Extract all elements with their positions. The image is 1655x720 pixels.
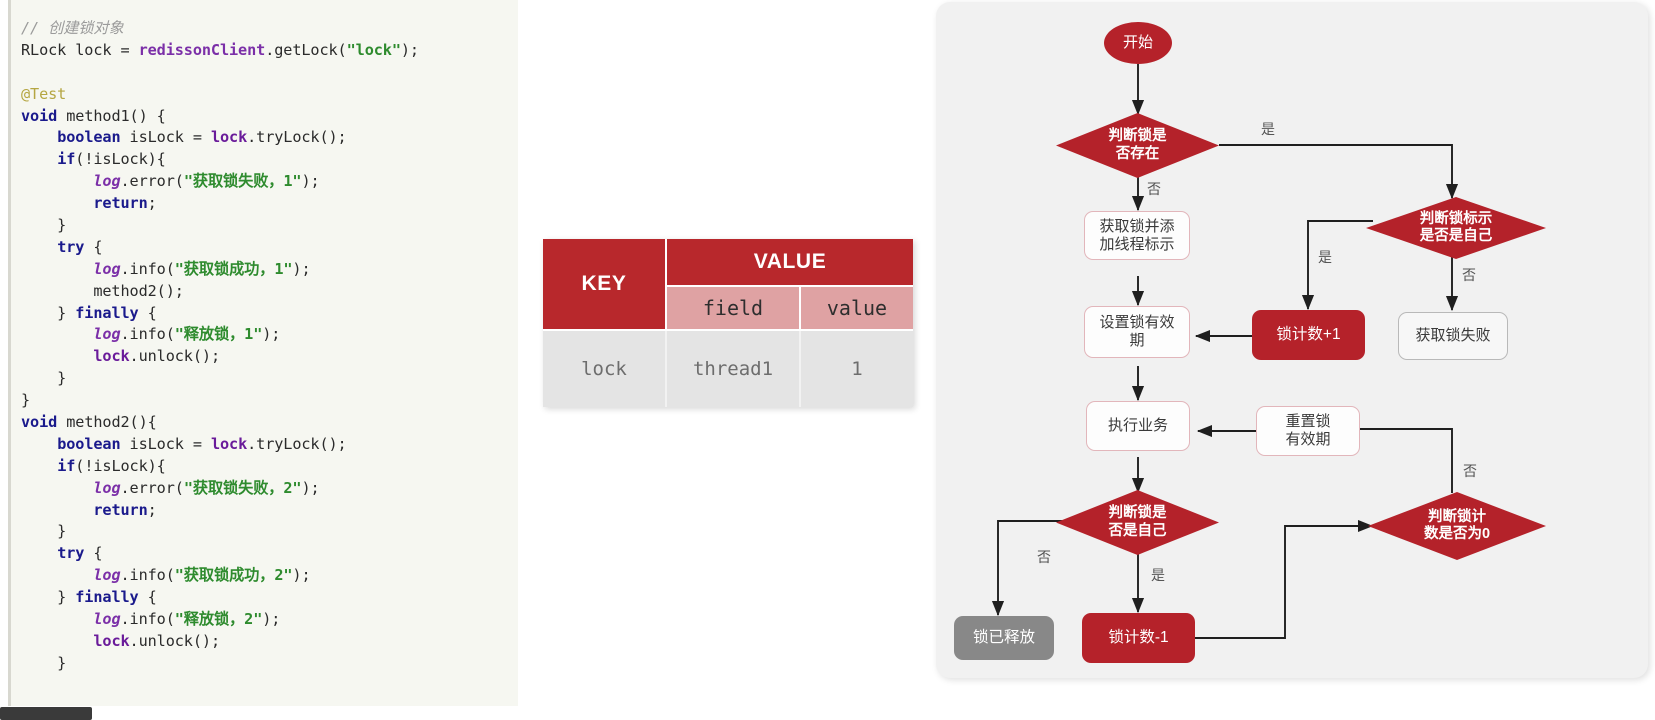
- code-token: [21, 260, 93, 278]
- code-token: RLock lock =: [21, 41, 139, 59]
- code-token: [21, 325, 93, 343]
- code-token: "lock": [347, 41, 401, 59]
- code-token: "获取锁失败，2": [184, 479, 302, 497]
- code-line: log.info("释放锁，2");: [21, 609, 419, 631]
- redis-hash-key-value-table: KEY VALUE field value lock thread1 1: [543, 239, 913, 407]
- code-horizontal-scrollbar-thumb[interactable]: [0, 707, 92, 720]
- code-token: );: [292, 566, 310, 584]
- code-token: .info(: [121, 325, 175, 343]
- code-token: {: [139, 588, 157, 606]
- flow-node-is-self-top: 判断锁标示是否是自己: [1366, 197, 1546, 259]
- edge-label-self-bot-no: 否: [1037, 550, 1051, 564]
- edge-label-count-zero-no: 否: [1463, 464, 1477, 478]
- code-token: boolean: [57, 435, 120, 453]
- code-token: lock: [211, 128, 247, 146]
- code-token: log: [93, 479, 120, 497]
- java-source-code: // 创建锁对象RLock lock = redissonClient.getL…: [21, 18, 419, 675]
- flow-node-set-ttl-label: 设置锁有效期: [1099, 314, 1174, 349]
- code-token: ;: [148, 194, 157, 212]
- flow-node-exec-business-label: 执行业务: [1108, 417, 1168, 435]
- flow-node-reset-ttl-label: 重置锁有效期: [1285, 413, 1330, 448]
- flow-node-is-self-top-label: 判断锁标示是否是自己: [1420, 211, 1493, 246]
- code-token: finally: [75, 304, 138, 322]
- code-line: boolean isLock = lock.tryLock();: [21, 434, 419, 456]
- code-token: {: [139, 304, 157, 322]
- code-token: boolean: [57, 128, 120, 146]
- code-token: [21, 194, 93, 212]
- flow-node-start-label: 开始: [1123, 34, 1153, 52]
- code-token: );: [301, 172, 319, 190]
- code-token: .info(: [121, 260, 175, 278]
- code-token: [21, 172, 93, 190]
- code-token: );: [262, 325, 280, 343]
- code-token: }: [21, 522, 66, 540]
- flow-node-count-decrement: 锁计数-1: [1082, 613, 1195, 663]
- code-line: }: [21, 653, 419, 675]
- code-token: .tryLock();: [247, 128, 346, 146]
- code-token: [21, 544, 57, 562]
- flow-node-count-increment-label: 锁计数+1: [1276, 326, 1340, 344]
- code-token: if: [57, 457, 75, 475]
- code-token: "释放锁，1": [175, 325, 262, 343]
- code-token: }: [21, 216, 66, 234]
- code-token: );: [301, 479, 319, 497]
- code-token: .unlock();: [130, 347, 220, 365]
- code-token: .tryLock();: [247, 435, 346, 453]
- code-token: );: [401, 41, 419, 59]
- code-token: );: [292, 260, 310, 278]
- code-line: }: [21, 521, 419, 543]
- screenshot-root: // 创建锁对象RLock lock = redissonClient.getL…: [0, 0, 1655, 720]
- code-token: method2();: [21, 282, 184, 300]
- code-token: try: [57, 544, 84, 562]
- code-line: }: [21, 368, 419, 390]
- flow-node-lock-released: 锁已释放: [954, 616, 1054, 660]
- code-token: log: [93, 610, 120, 628]
- flow-node-set-ttl: 设置锁有效期: [1084, 306, 1190, 358]
- code-token: .unlock();: [130, 632, 220, 650]
- code-token: log: [93, 172, 120, 190]
- code-line: }: [21, 390, 419, 412]
- code-line: log.error("获取锁失败，1");: [21, 171, 419, 193]
- table-cell-field: thread1: [667, 331, 801, 407]
- code-line: return;: [21, 500, 419, 522]
- code-token: if: [57, 150, 75, 168]
- code-line: } finally {: [21, 587, 419, 609]
- code-token: [21, 347, 93, 365]
- code-token: lock: [93, 632, 129, 650]
- code-line: } finally {: [21, 303, 419, 325]
- code-token: // 创建锁对象: [21, 19, 124, 37]
- code-token: [21, 479, 93, 497]
- flow-node-acquire-lock: 获取锁并添加线程标示: [1084, 211, 1190, 260]
- code-token: .error(: [121, 172, 184, 190]
- code-token: lock: [211, 435, 247, 453]
- code-token: "获取锁失败，1": [184, 172, 302, 190]
- code-token: (!isLock){: [75, 150, 165, 168]
- code-token: return: [93, 194, 147, 212]
- code-token: isLock =: [121, 128, 211, 146]
- code-token: [21, 566, 93, 584]
- code-token: "释放锁，2": [175, 610, 262, 628]
- table-cell-key: lock: [543, 331, 667, 407]
- code-token: log: [93, 325, 120, 343]
- table-subheader-value: value: [801, 287, 913, 331]
- code-token: [21, 501, 93, 519]
- lock-flowchart-panel: 开始 判断锁是否存在 是 否 获取锁并添加线程标示 设置锁有效期 执行业务 判断…: [936, 2, 1648, 678]
- code-token: try: [57, 238, 84, 256]
- code-line: void method2(){: [21, 412, 419, 434]
- flow-node-count-is-zero-label: 判断锁计数是否为0: [1424, 509, 1490, 544]
- code-line: method2();: [21, 281, 419, 303]
- code-token: (!isLock){: [75, 457, 165, 475]
- code-token: "获取锁成功，2": [175, 566, 293, 584]
- code-token: .info(: [121, 566, 175, 584]
- flow-node-is-self-bottom: 判断锁是否是自己: [1056, 490, 1219, 555]
- code-token: log: [93, 566, 120, 584]
- flow-node-acquire-failed: 获取锁失败: [1398, 312, 1508, 360]
- code-line: // 创建锁对象: [21, 18, 419, 40]
- code-token: finally: [75, 588, 138, 606]
- code-token: redissonClient: [139, 41, 266, 59]
- code-token: [21, 632, 93, 650]
- code-token: return: [93, 501, 147, 519]
- code-token: method1() {: [57, 107, 166, 125]
- edge-label-exists-no: 否: [1147, 182, 1161, 196]
- code-line: if(!isLock){: [21, 456, 419, 478]
- code-editor-panel[interactable]: // 创建锁对象RLock lock = redissonClient.getL…: [8, 0, 518, 706]
- code-token: method2(){: [57, 413, 156, 431]
- flow-node-lock-released-label: 锁已释放: [973, 629, 1035, 647]
- code-line: lock.unlock();: [21, 631, 419, 653]
- code-token: }: [21, 391, 30, 409]
- table-subheader-field: field: [667, 287, 801, 331]
- code-token: void: [21, 107, 57, 125]
- code-line: lock.unlock();: [21, 346, 419, 368]
- flow-node-count-decrement-label: 锁计数-1: [1108, 629, 1168, 647]
- code-token: [21, 457, 57, 475]
- flow-node-count-is-zero: 判断锁计数是否为0: [1368, 492, 1546, 560]
- flow-node-exec-business: 执行业务: [1086, 401, 1190, 451]
- flow-node-acquire-failed-label: 获取锁失败: [1415, 327, 1490, 345]
- code-token: log: [93, 260, 120, 278]
- code-line: @Test: [21, 84, 419, 106]
- code-token: {: [84, 544, 102, 562]
- code-token: @Test: [21, 85, 66, 103]
- flow-node-is-self-bottom-label: 判断锁是否是自己: [1109, 505, 1167, 540]
- code-line: RLock lock = redissonClient.getLock("loc…: [21, 40, 419, 62]
- code-token: "获取锁成功，1": [175, 260, 293, 278]
- table-cell-value: 1: [801, 331, 913, 407]
- edge-label-exists-yes: 是: [1261, 122, 1275, 136]
- code-token: }: [21, 304, 75, 322]
- code-token: isLock =: [121, 435, 211, 453]
- flow-node-count-increment: 锁计数+1: [1252, 310, 1365, 360]
- code-token: }: [21, 588, 75, 606]
- code-line: [21, 62, 419, 84]
- code-line: void method1() {: [21, 106, 419, 128]
- edge-label-self-top-yes: 是: [1318, 250, 1332, 264]
- code-line: }: [21, 215, 419, 237]
- flow-node-lock-exists: 判断锁是否存在: [1056, 113, 1219, 178]
- code-token: [21, 610, 93, 628]
- code-token: void: [21, 413, 57, 431]
- edge-label-self-top-no: 否: [1462, 268, 1476, 282]
- code-line: try {: [21, 237, 419, 259]
- code-line: log.info("释放锁，1");: [21, 324, 419, 346]
- code-token: [21, 128, 57, 146]
- code-line: if(!isLock){: [21, 149, 419, 171]
- code-token: [21, 435, 57, 453]
- code-token: lock: [93, 347, 129, 365]
- code-token: .info(: [121, 610, 175, 628]
- table-header-value: VALUE: [667, 239, 913, 287]
- code-line: try {: [21, 543, 419, 565]
- code-line: log.info("获取锁成功，2");: [21, 565, 419, 587]
- code-token: [21, 238, 57, 256]
- edge-label-self-bot-yes: 是: [1151, 568, 1165, 582]
- table-header-key: KEY: [543, 239, 667, 331]
- code-token: ;: [148, 501, 157, 519]
- code-token: .error(: [121, 479, 184, 497]
- flow-node-lock-exists-label: 判断锁是否存在: [1109, 128, 1167, 163]
- code-line: log.info("获取锁成功，1");: [21, 259, 419, 281]
- code-token: {: [84, 238, 102, 256]
- code-line: return;: [21, 193, 419, 215]
- flow-node-start: 开始: [1104, 22, 1172, 64]
- code-line: boolean isLock = lock.tryLock();: [21, 127, 419, 149]
- code-token: );: [262, 610, 280, 628]
- code-token: [21, 150, 57, 168]
- code-line: log.error("获取锁失败，2");: [21, 478, 419, 500]
- flow-node-acquire-lock-label: 获取锁并添加线程标示: [1099, 218, 1174, 253]
- code-token: .getLock(: [265, 41, 346, 59]
- code-token: }: [21, 654, 66, 672]
- code-token: }: [21, 369, 66, 387]
- flow-node-reset-ttl: 重置锁有效期: [1256, 406, 1360, 456]
